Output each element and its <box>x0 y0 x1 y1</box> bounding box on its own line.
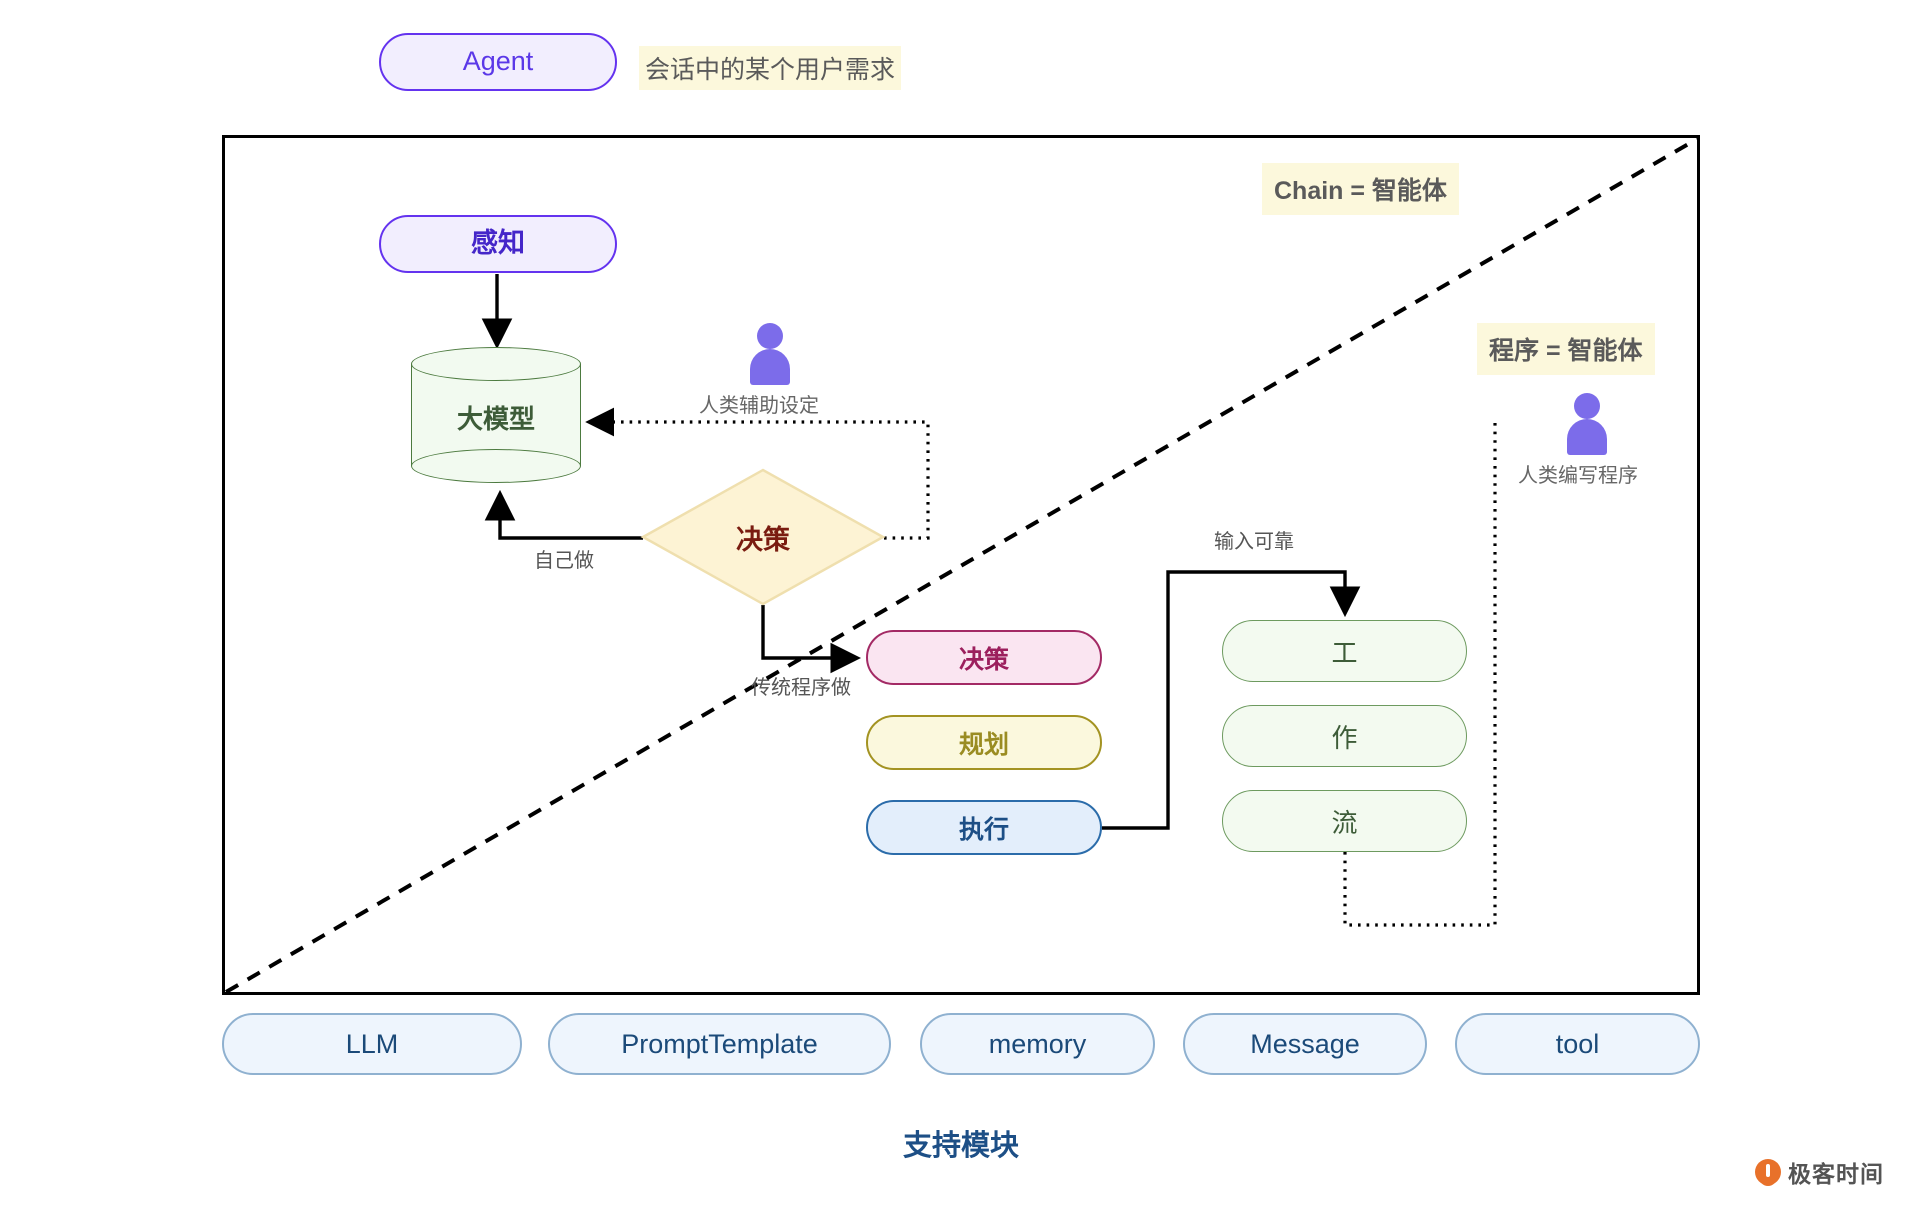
stack-pill-decision-label: 决策 <box>959 640 1009 676</box>
edge-label-traditional-program: 传统程序做 <box>748 671 854 700</box>
chain-equals-agent-note: Chain = 智能体 <box>1262 163 1459 215</box>
person-head <box>757 323 783 349</box>
human-assist-caption: 人类辅助设定 <box>699 389 819 418</box>
support-module-prompttemplate-label: PromptTemplate <box>621 1029 818 1060</box>
workflow-pill-3[interactable]: 流 <box>1222 790 1467 852</box>
workflow-pill-2-label: 作 <box>1331 718 1357 755</box>
watermark: 极客时间 <box>1755 1155 1884 1189</box>
large-model-cylinder[interactable]: 大模型 <box>411 347 581 483</box>
program-equals-agent-note: 程序 = 智能体 <box>1477 323 1655 375</box>
support-module-llm-label: LLM <box>346 1029 399 1060</box>
support-module-message-label: Message <box>1250 1029 1360 1060</box>
workflow-pill-1[interactable]: 工 <box>1222 620 1467 682</box>
requirement-note: 会话中的某个用户需求 <box>639 46 901 90</box>
diagram-canvas: Agent 会话中的某个用户需求 Chain = 智能体 程序 = 智能体 感知… <box>0 0 1920 1216</box>
agent-label: Agent <box>463 47 534 77</box>
stack-pill-planning-label: 规划 <box>959 725 1009 761</box>
cylinder-top-ellipse <box>411 347 581 381</box>
perception-label: 感知 <box>471 229 525 259</box>
stack-pill-execute-label: 执行 <box>959 810 1009 846</box>
perception-node[interactable]: 感知 <box>379 215 617 273</box>
geekbang-logo-icon <box>1755 1159 1781 1185</box>
support-module-llm[interactable]: LLM <box>222 1013 522 1075</box>
edge-label-self-do: 自己做 <box>531 544 597 573</box>
person-icon-human-assist <box>744 323 796 385</box>
agent-pill[interactable]: Agent <box>379 33 617 91</box>
workflow-pill-3-label: 流 <box>1331 803 1357 840</box>
support-module-memory[interactable]: memory <box>920 1013 1155 1075</box>
person-body <box>1567 419 1607 455</box>
cylinder-bottom-ellipse <box>411 449 581 483</box>
support-module-memory-label: memory <box>989 1029 1087 1060</box>
support-module-message[interactable]: Message <box>1183 1013 1427 1075</box>
person-body <box>750 349 790 385</box>
watermark-text: 极客时间 <box>1788 1155 1884 1189</box>
workflow-pill-1-label: 工 <box>1331 633 1357 670</box>
person-icon-human-program <box>1561 393 1613 455</box>
stack-pill-decision[interactable]: 决策 <box>866 630 1102 685</box>
human-program-caption: 人类编写程序 <box>1518 459 1638 488</box>
workflow-pill-2[interactable]: 作 <box>1222 705 1467 767</box>
person-head <box>1574 393 1600 419</box>
large-model-label: 大模型 <box>411 399 581 436</box>
support-modules-row: LLM PromptTemplate memory Message tool <box>222 1013 1700 1075</box>
support-module-tool-label: tool <box>1556 1029 1600 1060</box>
edge-label-input-reliable: 输入可靠 <box>1211 525 1297 554</box>
decision-diamond-node[interactable]: 决策 <box>643 470 883 605</box>
decision-diamond-label: 决策 <box>643 470 883 605</box>
stack-pill-planning[interactable]: 规划 <box>866 715 1102 770</box>
stack-pill-execute[interactable]: 执行 <box>866 800 1102 855</box>
support-module-prompttemplate[interactable]: PromptTemplate <box>548 1013 891 1075</box>
support-module-tool[interactable]: tool <box>1455 1013 1700 1075</box>
support-modules-title: 支持模块 <box>222 1122 1700 1164</box>
